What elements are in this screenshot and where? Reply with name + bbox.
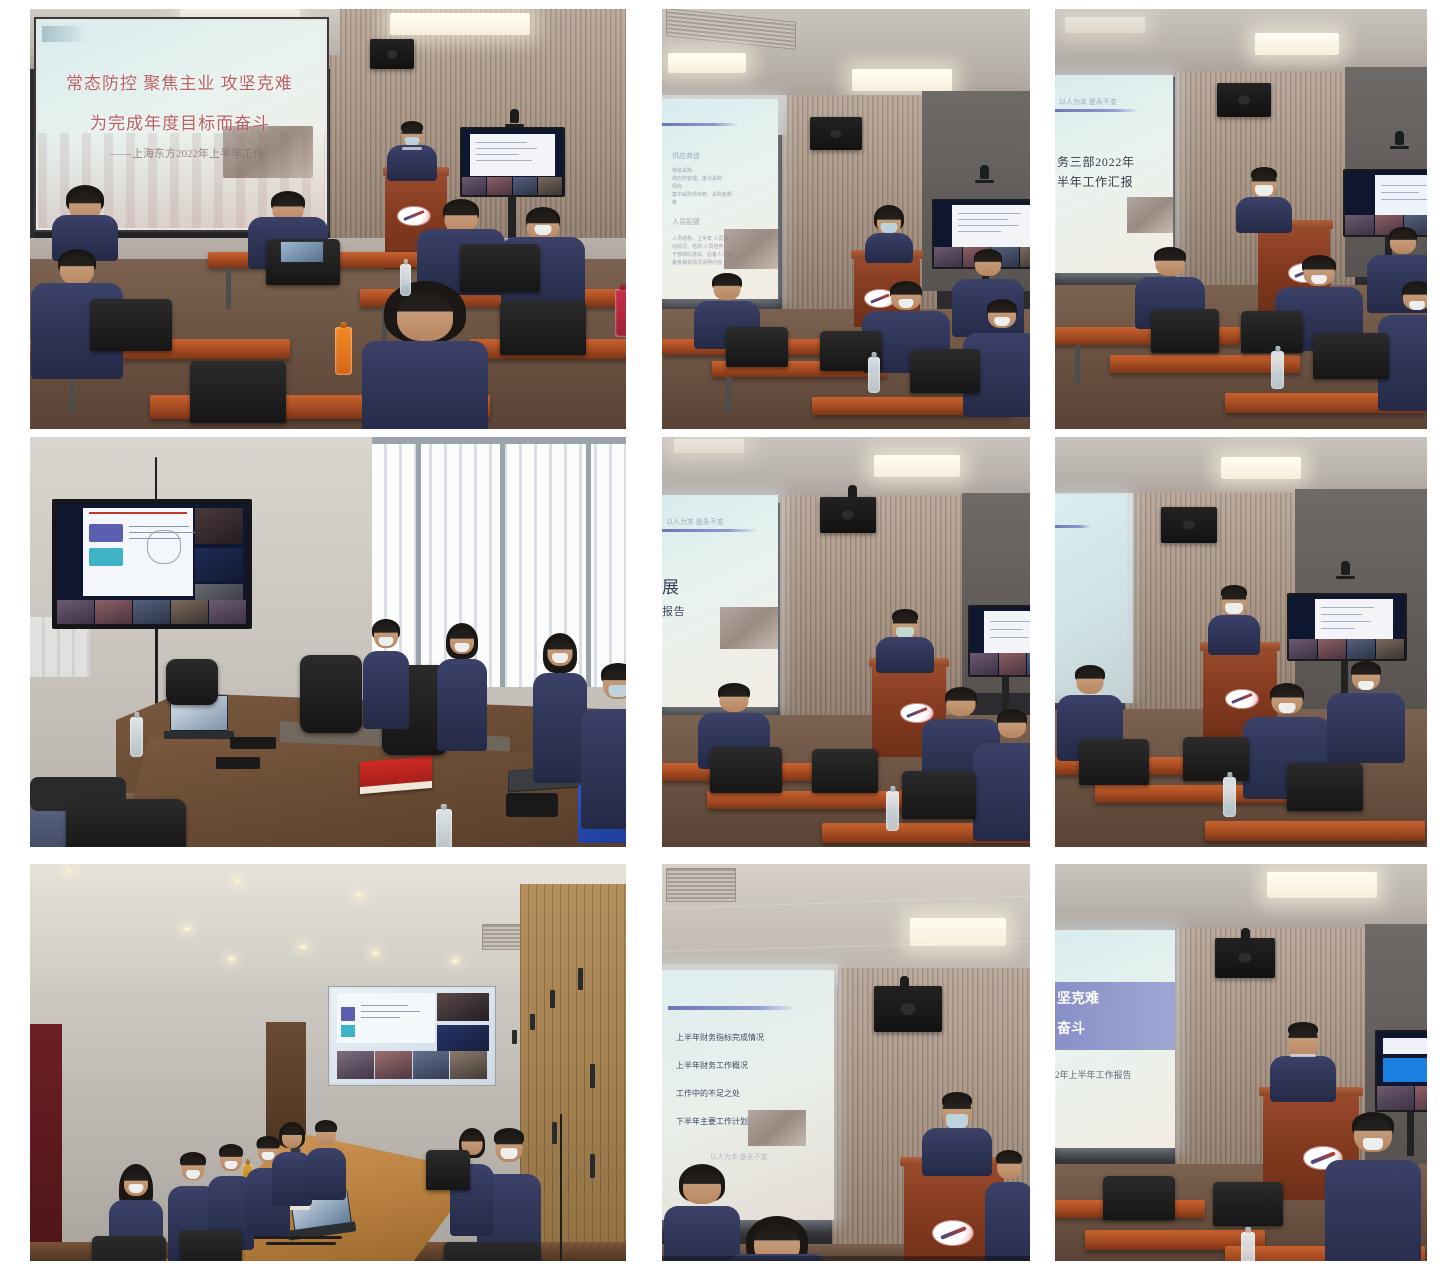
desk-row <box>707 791 907 809</box>
tv-participant-tile <box>195 508 243 544</box>
chair <box>1183 737 1249 781</box>
air-vent <box>666 868 736 902</box>
video-conference-tv <box>1287 593 1407 661</box>
speaker-icon <box>1161 507 1217 543</box>
scene-classroom-female-presenter: 供应商道 物资采购 供应商管理、重点采购 招标 集中采购项目数、采购金额 等 人… <box>662 9 1030 429</box>
slide-body-7: 动情况、培训 人员培养、 <box>672 243 728 250</box>
camera-icon <box>510 109 519 123</box>
audience-person <box>1323 1112 1423 1261</box>
ceiling-light <box>390 13 530 35</box>
tv-participant-tile <box>195 548 243 582</box>
projection-screen: 以人为本 是永不变 展 报告 <box>662 495 778 707</box>
audience-person <box>972 709 1030 841</box>
photo-tile-8[interactable]: 上半年财务指标完成情况 上半年财务工作概况 工作中的不足之处 下半年主要工作计划… <box>662 864 1030 1261</box>
audience-person <box>1325 661 1407 763</box>
speaker-icon <box>1217 83 1271 117</box>
speaker-icon <box>810 117 862 150</box>
slide-body-2: 供应商管理、重点采购 <box>672 175 722 182</box>
chair <box>166 659 218 705</box>
scene-classroom-mic-presenter <box>1055 437 1427 847</box>
slide-bullet-4: 下半年主要工作计划 <box>676 1116 748 1127</box>
slide-inset-photo <box>1127 197 1173 233</box>
chair <box>190 361 286 423</box>
slide-subtitle-fragment: 报告 <box>662 603 685 619</box>
slide-footer: 以人为本 是永不变 <box>710 1152 768 1162</box>
slide-title-line-2: 为完成年度目标而奋斗 <box>90 109 270 134</box>
tv-shared-document <box>984 611 1030 653</box>
photo-tile-2[interactable]: 供应商道 物资采购 供应商管理、重点采购 招标 集中采购项目数、采购金额 等 人… <box>662 9 1030 429</box>
tv-slide-tag-2 <box>89 548 123 566</box>
chair <box>300 655 362 733</box>
slide-header: 以人为本 是永不变 <box>666 517 724 527</box>
attendee-person <box>360 619 412 729</box>
speaker-person <box>874 609 936 673</box>
water-bottle <box>1271 351 1284 389</box>
speaker-person <box>1267 1022 1339 1102</box>
cable <box>560 1114 562 1261</box>
speaker-person <box>382 121 442 181</box>
water-bottle <box>1241 1232 1255 1261</box>
attendee-person <box>304 1120 348 1200</box>
chair <box>902 771 976 819</box>
water-bottle <box>400 264 411 296</box>
speaker-person <box>1233 167 1295 233</box>
tv-participant-strip <box>57 600 247 624</box>
tv-participant-strip <box>1289 639 1405 659</box>
ceiling-light <box>1221 457 1301 479</box>
slide-inset-photo <box>748 1110 806 1146</box>
slide-surface: 以人为本 是永不变 展 报告 <box>662 495 778 707</box>
camera-icon <box>980 165 989 179</box>
slide-heading-2: 人员配置 <box>672 217 700 227</box>
company-emblem-icon <box>932 1220 974 1246</box>
cable <box>155 457 157 501</box>
conference-mic <box>230 737 276 749</box>
chair <box>710 747 782 793</box>
slide-logo-icon <box>42 26 88 42</box>
tv-shared-document <box>470 134 555 176</box>
photo-tile-3[interactable]: 以人为本 是永不变 务三部2022年 半年工作汇报 <box>1055 9 1427 429</box>
tv-shared-document <box>1375 175 1427 215</box>
projection-screen: 坚克难 奋斗 2年上半年工作报告 <box>1055 930 1175 1148</box>
slide-inset-photo <box>724 229 778 269</box>
door[interactable] <box>30 1024 62 1261</box>
water-bottle <box>130 717 143 757</box>
photo-tile-1[interactable]: 常态防控 聚焦主业 攻坚克难 为完成年度目标而奋斗 ——上海东方2022年上半年… <box>30 9 626 429</box>
ceiling-light <box>874 455 960 477</box>
ceiling-light <box>1065 17 1145 33</box>
slide-subtitle: 2年上半年工作报告 <box>1055 1068 1132 1081</box>
tv-shared-slide <box>83 508 193 596</box>
water-bottle <box>886 791 899 831</box>
scene-classroom-main: 常态防控 聚焦主业 攻坚克难 为完成年度目标而奋斗 ——上海东方2022年上半年… <box>30 9 626 429</box>
slide-title-band: 坚克难 奋斗 <box>1055 982 1175 1050</box>
photo-tile-4[interactable] <box>30 437 626 847</box>
attendee-person <box>434 623 490 751</box>
video-conference-tv <box>1375 1030 1427 1112</box>
ceiling-light <box>674 439 744 453</box>
slide-title-line-2: 半年工作汇报 <box>1057 173 1133 190</box>
slide-band-line-1: 坚克难 <box>1057 988 1099 1008</box>
chair <box>1241 311 1303 353</box>
slide-body-4: 集中采购项目数、采购金额 <box>672 191 732 198</box>
tv-shared-document <box>1315 599 1393 639</box>
scene-classroom-masked-presenter: 以人为本 是永不变 务三部2022年 半年工作汇报 <box>1055 9 1427 429</box>
red-book <box>360 756 432 794</box>
speaker-icon <box>370 39 414 69</box>
slide-surface: 供应商道 物资采购 供应商管理、重点采购 招标 集中采购项目数、采购金额 等 人… <box>662 99 778 299</box>
cable <box>252 1236 342 1239</box>
speaker-person <box>862 205 916 263</box>
slide-title-line-1: 务三部2022年 <box>1057 153 1135 170</box>
ceiling-light <box>852 69 952 91</box>
water-bottle <box>436 809 452 847</box>
wall-tv <box>52 499 252 629</box>
camera-icon <box>1241 928 1250 942</box>
tv-participant-strip <box>462 177 563 195</box>
slide-inset-photo <box>720 607 778 649</box>
ceiling-light <box>668 53 746 73</box>
air-vent <box>482 924 522 950</box>
projection-screen: 供应商道 物资采购 供应商管理、重点采购 招标 集中采购项目数、采购金额 等 人… <box>662 99 778 299</box>
slide-body-9: 备等相关情况说明内容 <box>672 259 722 266</box>
laptop <box>280 241 324 263</box>
laptop-base <box>164 731 234 739</box>
chair <box>92 1236 166 1261</box>
scene-classroom-finance-report: 上半年财务指标完成情况 上半年财务工作概况 工作中的不足之处 下半年主要工作计划… <box>662 864 1030 1261</box>
conference-mic <box>216 757 260 769</box>
cable <box>266 1242 336 1245</box>
tv-shared-document <box>952 205 1030 247</box>
slide-bullet-1: 上半年财务指标完成情况 <box>676 1032 764 1043</box>
video-conference-tv <box>968 605 1030 677</box>
audience-person <box>724 1216 830 1261</box>
slide-band-line-2: 奋斗 <box>1057 1018 1085 1038</box>
slide-body-8: 干部梯队建设、后备人才储 <box>672 251 732 258</box>
projection-screen: 以人为本 是永不变 务三部2022年 半年工作汇报 <box>1055 75 1173 273</box>
tv-slide-tag-1 <box>89 524 123 542</box>
speaker-person <box>1205 585 1263 655</box>
scene-board-room <box>30 864 626 1261</box>
chair <box>500 301 586 355</box>
camera-icon <box>1341 561 1350 575</box>
chair <box>1287 763 1363 811</box>
audience-person <box>360 281 490 429</box>
chair <box>444 1242 540 1261</box>
camera-icon <box>1395 131 1404 145</box>
photo-tile-7[interactable] <box>30 864 626 1261</box>
tv-highlight-pane <box>1383 1058 1427 1082</box>
slide-subtitle: ——上海东方2022年上半年工作 <box>110 145 264 161</box>
tv-participant-strip <box>1377 1086 1427 1110</box>
chair <box>180 1230 242 1261</box>
ceiling-light <box>1255 33 1339 55</box>
chair <box>1213 1182 1283 1226</box>
chair <box>1313 333 1389 379</box>
chair <box>726 327 788 367</box>
slide-title-fragment: 展 <box>662 573 680 598</box>
water-bottle <box>868 357 880 393</box>
slide-bullet-2: 上半年财务工作概况 <box>676 1060 748 1071</box>
photo-tile-5[interactable]: 以人为本 是永不变 展 报告 <box>662 437 1030 847</box>
tv-participant-strip <box>970 653 1030 675</box>
photo-grid: 常态防控 聚焦主业 攻坚克难 为完成年度目标而奋斗 ——上海东方2022年上半年… <box>0 0 1454 1280</box>
chair <box>910 349 980 393</box>
slide-title-line-1: 常态防控 聚焦主业 攻坚克难 <box>66 69 293 94</box>
slide-body-1: 物资采购 <box>672 167 692 174</box>
projection-screen <box>328 986 496 1086</box>
photo-tile-6[interactable] <box>1055 437 1427 847</box>
chair <box>426 1150 470 1190</box>
chair <box>460 244 540 292</box>
desk-row <box>1205 821 1425 841</box>
slide-header: 以人为本 是永不变 <box>1059 97 1117 107</box>
slide-body-5: 等 <box>672 199 677 206</box>
slide-heading-1: 供应商道 <box>672 151 700 161</box>
scene-classroom-leader-closing: 坚克难 奋斗 2年上半年工作报告 <box>1055 864 1427 1261</box>
water-bottle <box>1223 777 1236 817</box>
camera-icon <box>848 485 857 499</box>
slide-surface: 以人为本 是永不变 务三部2022年 半年工作汇报 <box>1055 75 1173 273</box>
photo-tile-9[interactable]: 坚克难 奋斗 2年上半年工作报告 <box>1055 864 1427 1261</box>
red-thermos <box>615 289 626 337</box>
conference-mic <box>506 793 558 817</box>
video-conference-tv <box>460 127 565 197</box>
projected-meeting-view <box>331 989 493 1083</box>
chair <box>66 799 186 847</box>
chair <box>812 749 878 793</box>
chair <box>1151 309 1219 353</box>
chair <box>1103 1176 1175 1220</box>
attendee-person <box>578 663 626 829</box>
scene-small-meeting-room <box>30 437 626 847</box>
ceiling-light <box>1267 872 1377 898</box>
foreground-shadow <box>662 1256 1030 1261</box>
slide-bullet-3: 工作中的不足之处 <box>676 1088 740 1099</box>
chair <box>1079 739 1149 785</box>
scene-classroom-reading-presenter: 以人为本 是永不变 展 报告 <box>662 437 1030 847</box>
speaker-person <box>920 1092 994 1176</box>
slide-body-3: 招标 <box>672 183 682 190</box>
slide-body-6: 人员结构、上半年 人员变 <box>672 235 728 242</box>
audience-person <box>984 1150 1030 1261</box>
orange-thermos <box>335 327 352 375</box>
slide-surface: 坚克难 奋斗 2年上半年工作报告 <box>1055 930 1175 1148</box>
camera-icon <box>900 976 909 990</box>
chair <box>90 299 172 351</box>
